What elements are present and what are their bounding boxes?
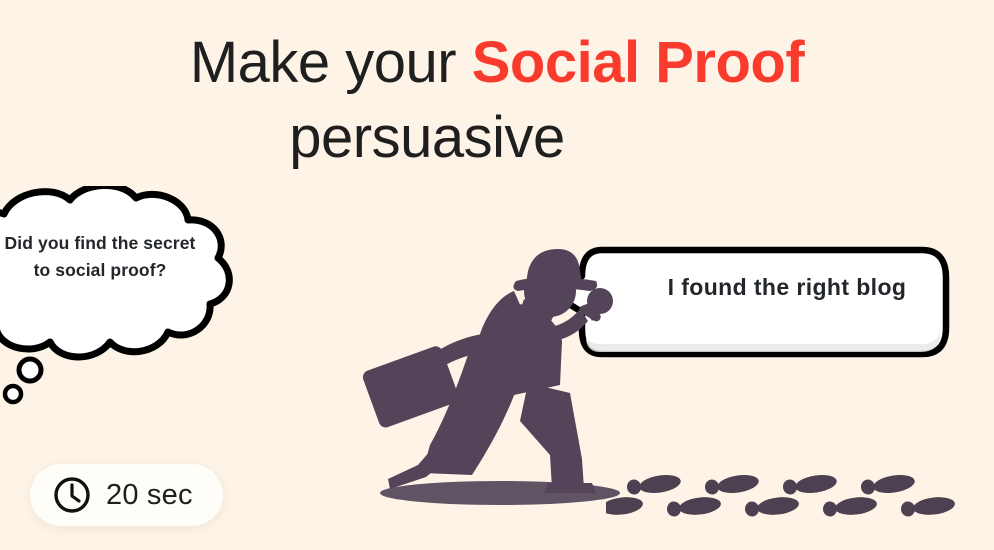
footprints-group (606, 468, 956, 540)
headline-highlight-text: Social Proof (472, 30, 804, 95)
page-title: Make your Social Proof persuasive (0, 28, 994, 174)
headline-plain-text: Make your (190, 30, 472, 95)
headline-line-2: persuasive (0, 103, 994, 174)
speech-bubble-text: I found the right blog (622, 274, 952, 301)
timer-badge: 20 sec (30, 464, 223, 526)
thought-bubble-text: Did you find the secret to social proof? (0, 230, 200, 283)
headline-plain-text-2: persuasive (289, 105, 564, 170)
timer-label: 20 sec (106, 479, 193, 512)
headline-line-1: Make your Social Proof (0, 28, 994, 99)
thought-bubble-trail (0, 352, 80, 422)
thought-trail-dots (0, 352, 80, 422)
slide-canvas: Make your Social Proof persuasive Did yo… (0, 0, 994, 550)
thought-bubble: Did you find the secret to social proof? (0, 186, 252, 366)
clock-icon (52, 475, 92, 515)
footprints-trail (606, 468, 956, 540)
